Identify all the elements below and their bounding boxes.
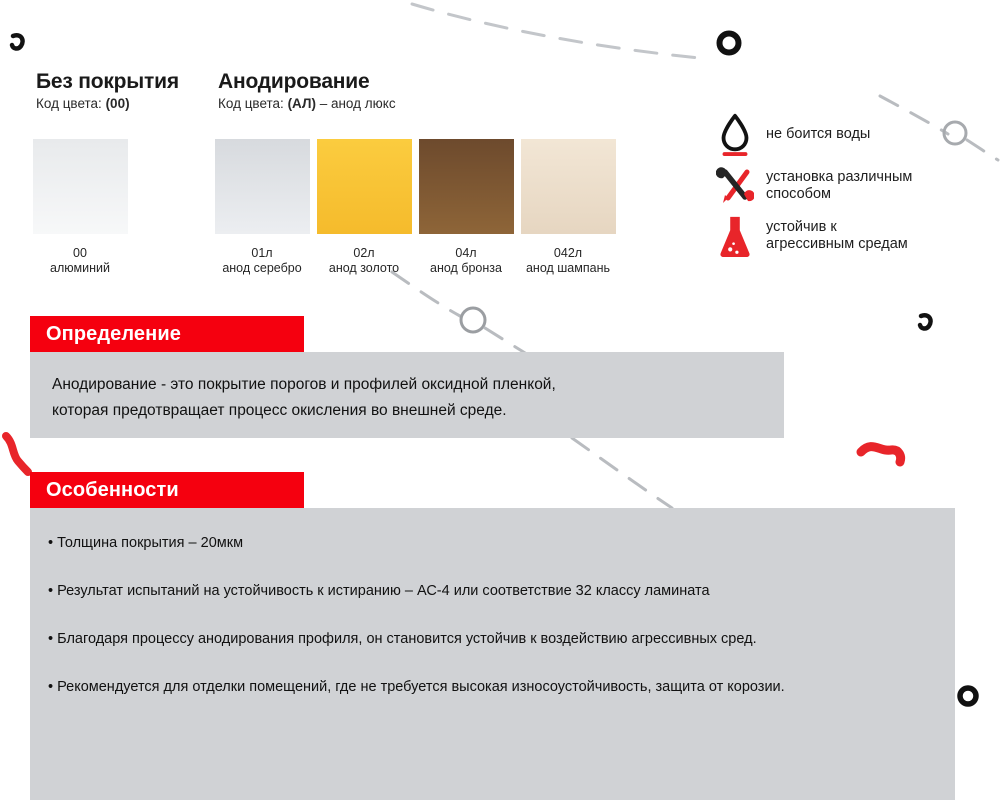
flask-icon bbox=[716, 214, 754, 258]
decor-ring-center bbox=[461, 308, 485, 332]
feature-water-label: не боится воды bbox=[766, 126, 870, 143]
dashed-line-diagonal-bottom bbox=[572, 438, 672, 508]
uncoated-code-value: (00) bbox=[106, 96, 130, 111]
feature-install: установка различным способом bbox=[716, 164, 912, 208]
definition-line-2: которая предотвращает процесс окисления … bbox=[52, 398, 762, 424]
color-swatch-02l[interactable] bbox=[317, 139, 412, 234]
color-swatch-042l[interactable] bbox=[521, 139, 616, 234]
color-name-01l: анод серебро bbox=[207, 261, 317, 276]
color-name-04l: анод бронза bbox=[411, 261, 521, 276]
color-code-02l: 02л bbox=[309, 246, 419, 261]
feature-chemical: устойчив к агрессивным средам bbox=[716, 214, 908, 258]
color-swatch-00[interactable] bbox=[33, 139, 128, 234]
spec-bullet-2: • Результат испытаний на устойчивость к … bbox=[48, 578, 925, 604]
color-swatch-01l[interactable] bbox=[215, 139, 310, 234]
color-label-042l: 042л анод шампань bbox=[513, 246, 623, 276]
column-title-uncoated: Без покрытия bbox=[36, 70, 179, 94]
spec-bullet-4: • Рекомендуется для отделки помещений, г… bbox=[48, 674, 925, 700]
decor-squiggle-left bbox=[6, 436, 28, 472]
color-code-042l: 042л bbox=[513, 246, 623, 261]
anodizing-code-prefix: Код цвета: bbox=[218, 96, 288, 111]
dashed-line-top bbox=[412, 4, 700, 58]
definition-line-1: Анодирование - это покрытие порогов и пр… bbox=[52, 372, 762, 398]
specs-panel: • Толщина покрытия – 20мкм • Результат и… bbox=[30, 508, 955, 800]
feature-water: не боится воды bbox=[716, 112, 870, 156]
column-subtitle-uncoated: Код цвета: (00) bbox=[36, 96, 130, 111]
water-drop-icon bbox=[716, 112, 754, 156]
tools-icon bbox=[716, 164, 754, 208]
dashed-line-upper-right-tail bbox=[967, 140, 998, 160]
decor-hook-right bbox=[920, 315, 931, 328]
color-name-042l: анод шампань bbox=[513, 261, 623, 276]
color-label-00: 00 алюминий bbox=[25, 246, 135, 276]
anodizing-code-value: (АЛ) bbox=[288, 96, 316, 111]
section-tab-specs: Особенности bbox=[30, 472, 304, 508]
decor-donut-top bbox=[720, 34, 739, 53]
spec-bullet-3: • Благодаря процессу анодирования профил… bbox=[48, 626, 925, 652]
dashed-line-upper-right bbox=[880, 96, 948, 134]
color-swatch-04l[interactable] bbox=[419, 139, 514, 234]
color-name-00: алюминий bbox=[25, 261, 135, 276]
decor-squiggle-right bbox=[861, 447, 901, 462]
feature-install-label: установка различным способом bbox=[766, 169, 912, 203]
color-code-00: 00 bbox=[25, 246, 135, 261]
decor-hook-top-left bbox=[12, 35, 23, 48]
spec-bullet-1: • Толщина покрытия – 20мкм bbox=[48, 530, 925, 556]
column-title-anodizing: Анодирование bbox=[218, 70, 369, 94]
color-code-04l: 04л bbox=[411, 246, 521, 261]
poster-canvas: Без покрытия Код цвета: (00) Анодировани… bbox=[0, 0, 1000, 800]
color-label-04l: 04л анод бронза bbox=[411, 246, 521, 276]
color-name-02l: анод золото bbox=[309, 261, 419, 276]
column-subtitle-anodizing: Код цвета: (АЛ) – анод люкс bbox=[218, 96, 396, 111]
decor-donut-bottom-right bbox=[960, 688, 976, 704]
color-label-01l: 01л анод серебро bbox=[207, 246, 317, 276]
color-code-01l: 01л bbox=[207, 246, 317, 261]
dashed-line-diagonal-upper bbox=[392, 272, 460, 316]
section-tab-definition: Определение bbox=[30, 316, 304, 352]
color-label-02l: 02л анод золото bbox=[309, 246, 419, 276]
feature-chemical-label: устойчив к агрессивным средам bbox=[766, 219, 908, 253]
definition-panel: Анодирование - это покрытие порогов и пр… bbox=[30, 352, 784, 438]
uncoated-code-prefix: Код цвета: bbox=[36, 96, 106, 111]
anodizing-code-suffix: – анод люкс bbox=[316, 96, 396, 111]
